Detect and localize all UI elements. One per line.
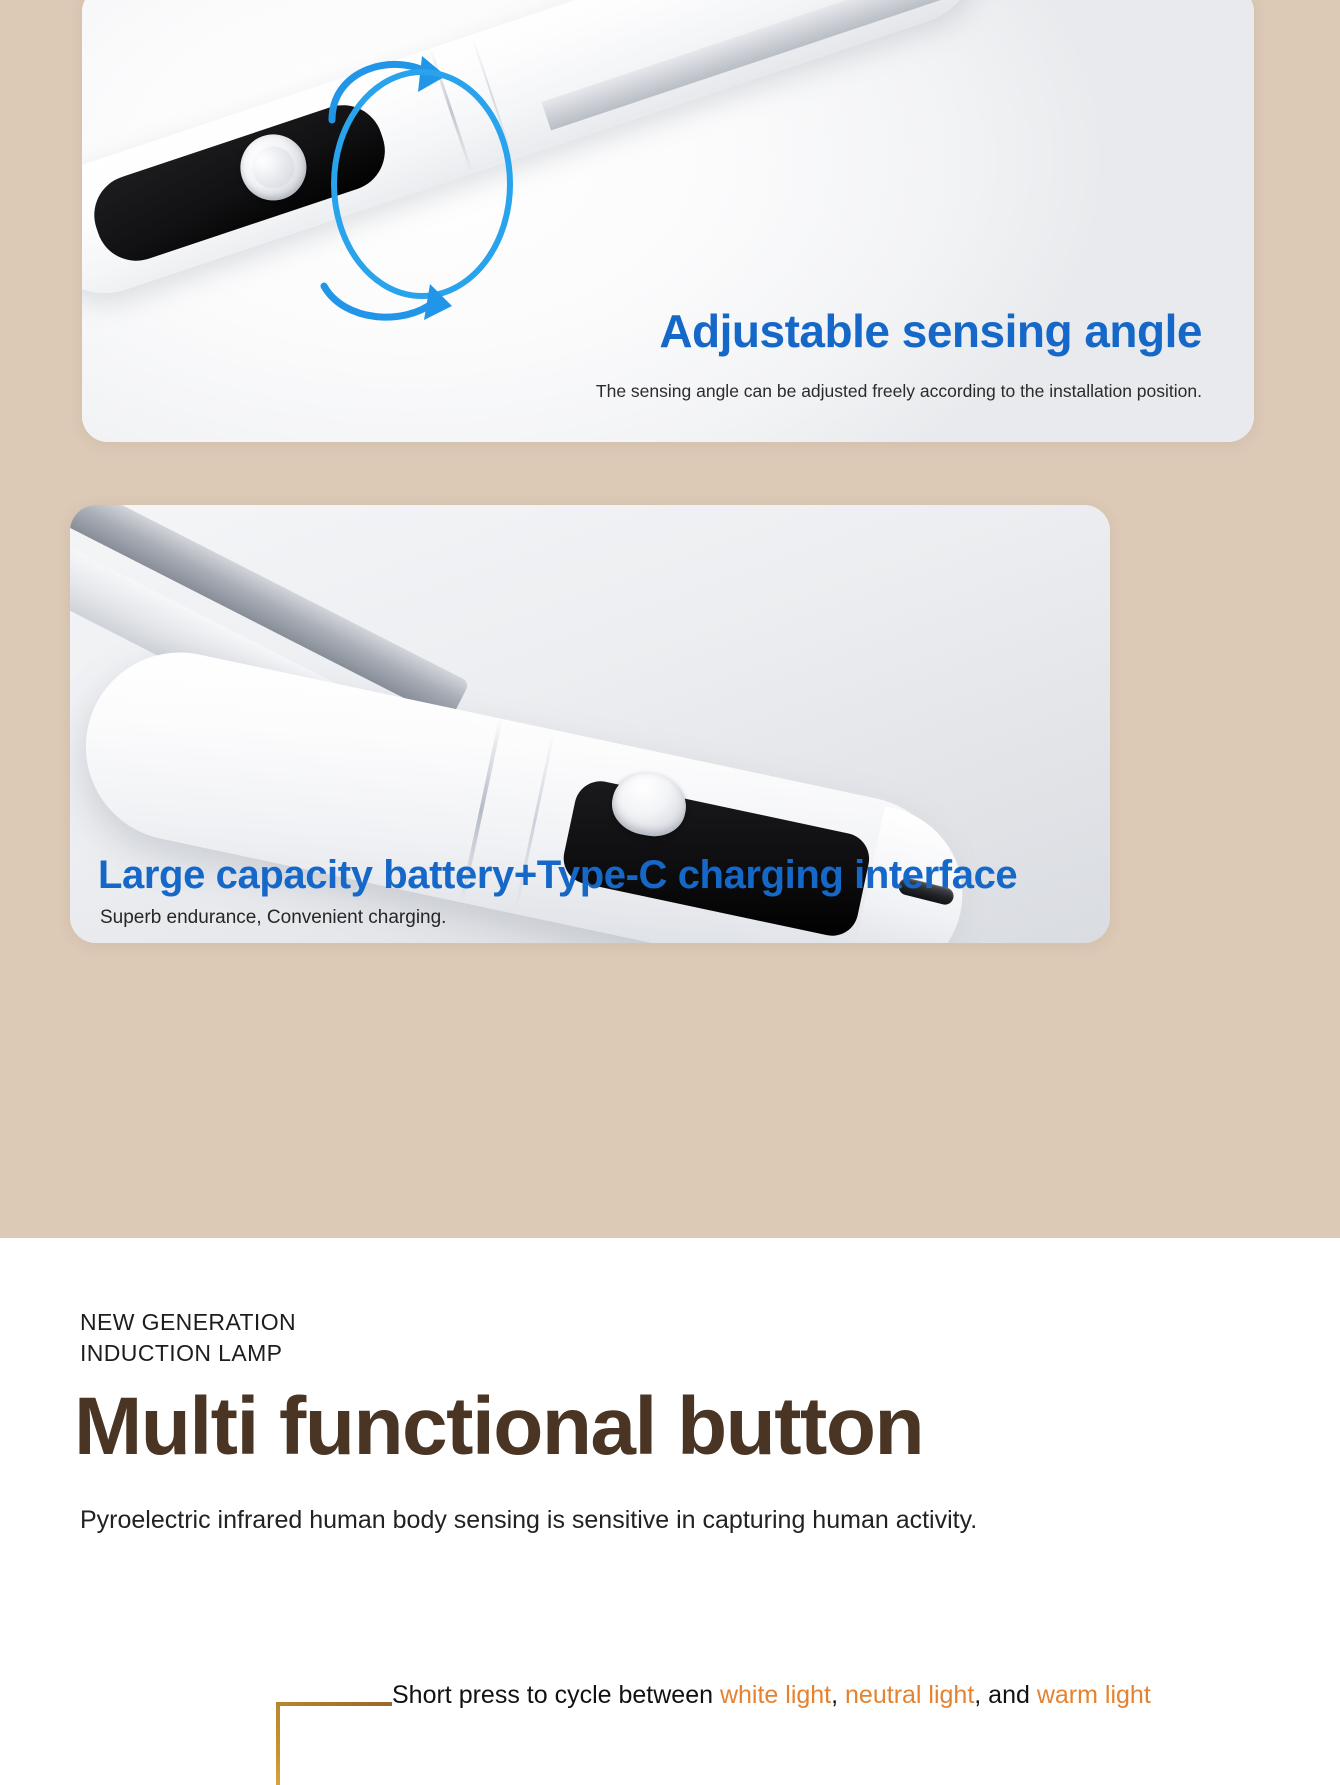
card-title: Large capacity battery+Type-C charging i…	[98, 853, 1017, 898]
card-subtitle: The sensing angle can be adjusted freely…	[82, 381, 1202, 402]
eyebrow-line-2: INDUCTION LAMP	[80, 1338, 296, 1369]
rotation-arrows-icon	[318, 34, 548, 334]
product-photo-angle	[82, 0, 1254, 442]
eyebrow-text: NEW GENERATION INDUCTION LAMP	[80, 1307, 296, 1369]
callout-mode-white: white light	[720, 1681, 831, 1709]
callout-lead: Short press to cycle between	[392, 1681, 720, 1709]
mounting-rail	[541, 0, 996, 130]
card-subtitle: Superb endurance, Convenient charging.	[100, 907, 446, 929]
callout-mode-warm: warm light	[1037, 1681, 1151, 1709]
lamp-endcap	[82, 182, 83, 317]
callout-text: Short press to cycle between white light…	[392, 1681, 1151, 1710]
callout-sep-1: ,	[831, 1681, 845, 1709]
section-subline: Pyroelectric infrared human body sensing…	[80, 1506, 977, 1535]
feature-card-large-capacity-battery: Large capacity battery+Type-C charging i…	[70, 505, 1110, 943]
card-title: Adjustable sensing angle	[82, 304, 1202, 358]
callout-sep-2: , and	[974, 1681, 1037, 1709]
callout-mode-neutral: neutral light	[845, 1681, 974, 1709]
product-detail-page: Adjustable sensing angle The sensing ang…	[0, 0, 1340, 1785]
connector-vertical	[276, 1702, 280, 1785]
connector-horizontal	[276, 1702, 392, 1706]
hero-beige-section: Adjustable sensing angle The sensing ang…	[0, 0, 1340, 1238]
feature-card-adjustable-sensing-angle: Adjustable sensing angle The sensing ang…	[82, 0, 1254, 442]
callout-connector-line	[276, 1698, 392, 1785]
section-headline: Multi functional button	[74, 1380, 923, 1474]
eyebrow-line-1: NEW GENERATION	[80, 1307, 296, 1338]
